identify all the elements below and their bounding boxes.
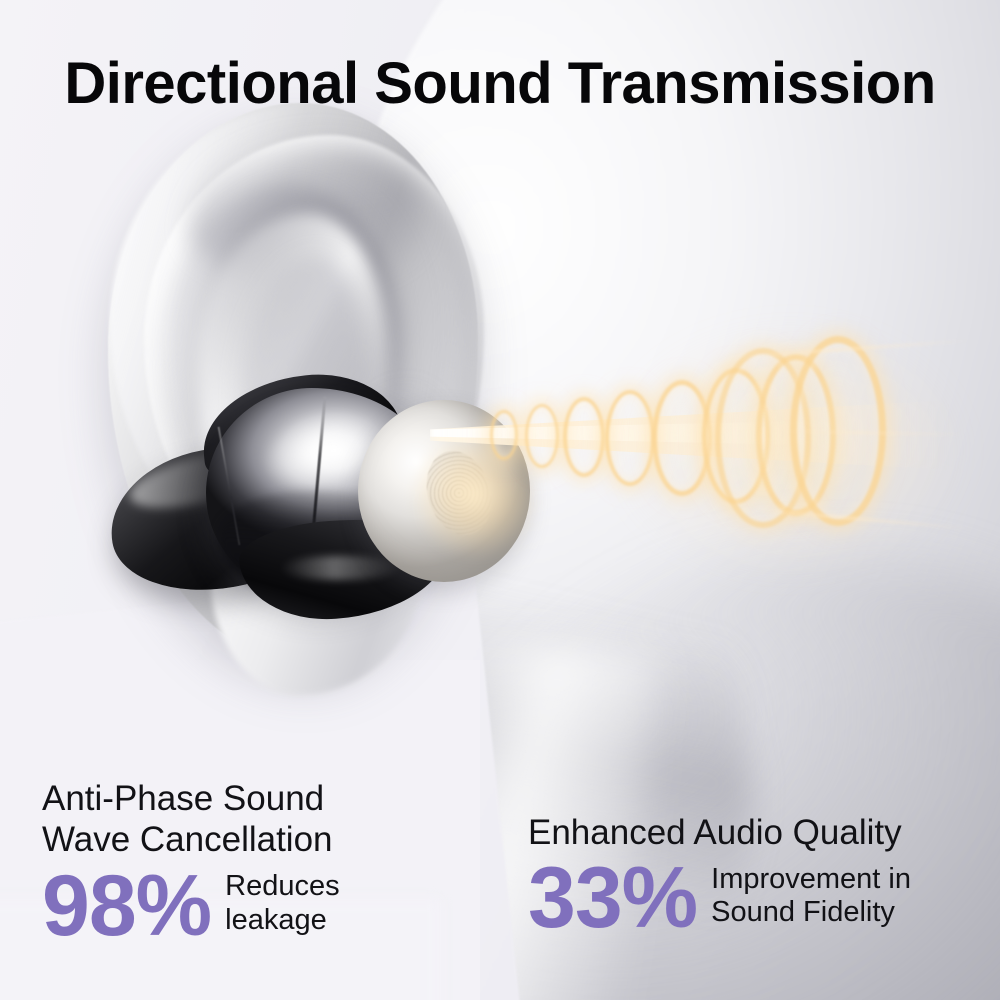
earbud <box>110 370 500 620</box>
stat-row: 98% Reduces leakage <box>42 863 340 949</box>
stat-value: 98% <box>42 863 211 949</box>
stat-caption: Improvement in Sound Fidelity <box>711 863 911 934</box>
page-title: Directional Sound Transmission <box>0 50 1000 117</box>
stat-value: 33% <box>528 855 697 941</box>
earbud-lower-gloss <box>280 556 400 580</box>
stat-block-anti-phase: Anti-Phase Sound Wave Cancellation 98% R… <box>42 778 340 949</box>
stat-row: 33% Improvement in Sound Fidelity <box>528 855 911 941</box>
stat-heading: Enhanced Audio Quality <box>528 812 911 853</box>
stat-block-audio-quality: Enhanced Audio Quality 33% Improvement i… <box>528 812 911 941</box>
earbud-emitter-glow <box>410 430 540 560</box>
stat-heading: Anti-Phase Sound Wave Cancellation <box>42 778 340 861</box>
stat-caption: Reduces leakage <box>225 870 339 941</box>
product-feature-graphic: Directional Sound Transmission Anti-Phas… <box>0 0 1000 1000</box>
